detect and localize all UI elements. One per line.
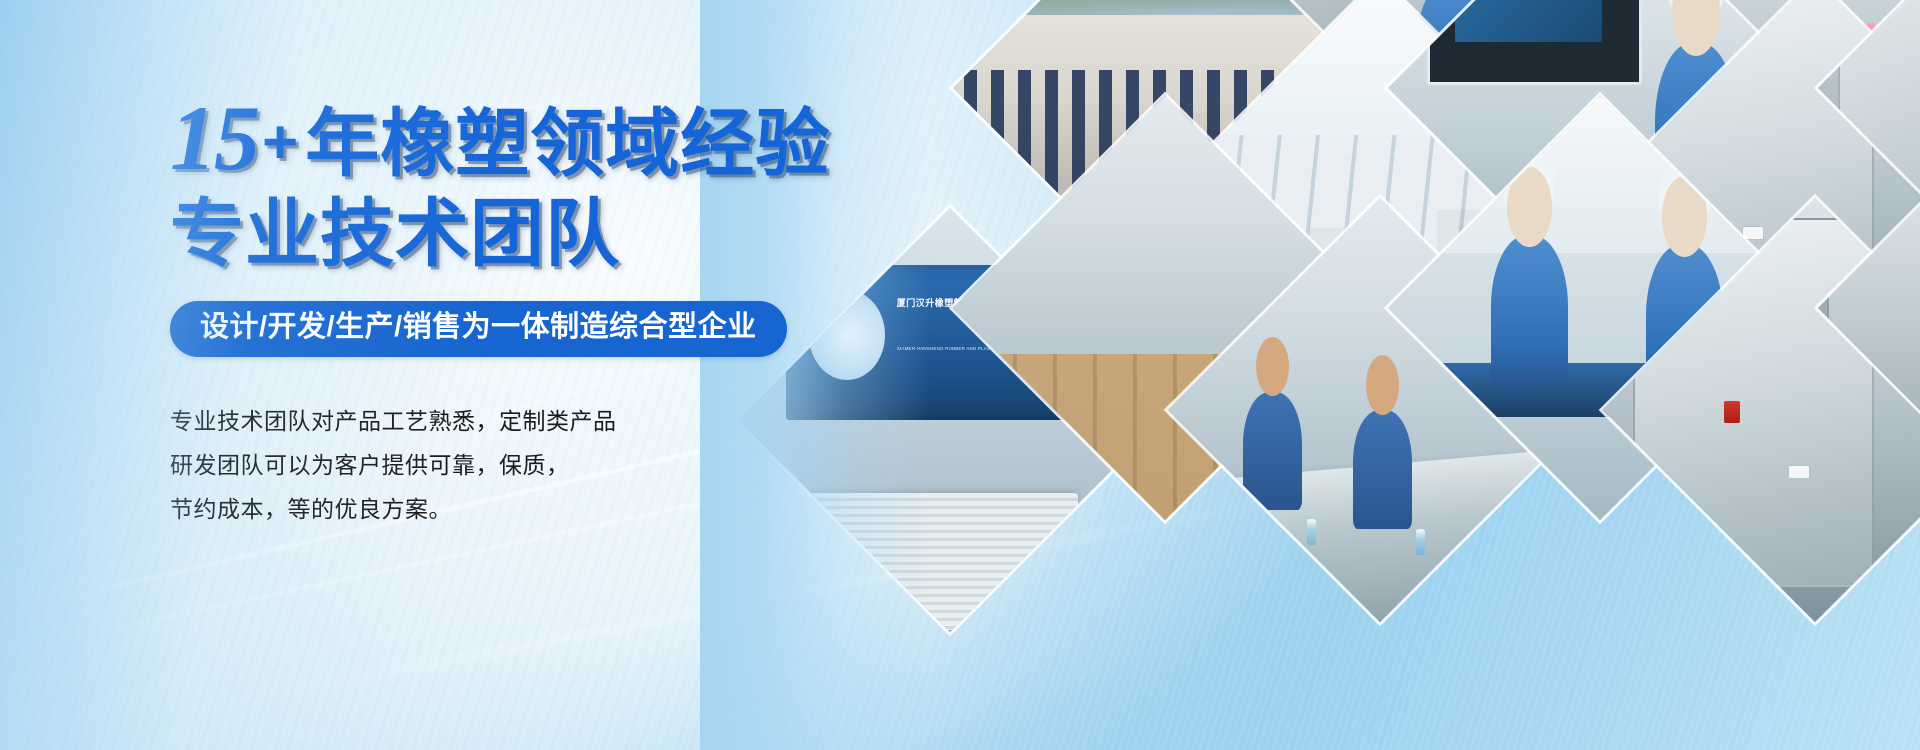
photo-collage: 厦门汉升橡塑制品有限公司 XIAMEN HANSHENG RUBBER AND … bbox=[760, 0, 1920, 750]
badge-capability: 设计/开发/生产/销售为一体制造综合型企业 bbox=[170, 301, 787, 357]
headline-line-1-suffix: 年橡塑领域经验 bbox=[305, 102, 830, 185]
plus-symbol: + bbox=[262, 108, 299, 177]
years-number: 15 bbox=[170, 87, 258, 189]
description-paragraph: 专业技术团队对产品工艺熟悉，定制类产品 研发团队可以为客户提供可靠，保质， 节约… bbox=[170, 399, 930, 531]
promo-banner: 厦门汉升橡塑制品有限公司 XIAMEN HANSHENG RUBBER AND … bbox=[0, 0, 1920, 750]
description-line-1: 专业技术团队对产品工艺熟悉，定制类产品 bbox=[170, 399, 930, 443]
description-line-2: 研发团队可以为客户提供可靠，保质， bbox=[170, 443, 930, 487]
headline-line-2: 专业技术团队 bbox=[170, 189, 930, 279]
banner-text-block: 15+年橡塑领域经验 专业技术团队 设计/开发/生产/销售为一体制造综合型企业 … bbox=[170, 92, 930, 531]
description-line-3: 节约成本，等的优良方案。 bbox=[170, 487, 930, 531]
headline-line-1: 15+年橡塑领域经验 bbox=[170, 92, 930, 195]
